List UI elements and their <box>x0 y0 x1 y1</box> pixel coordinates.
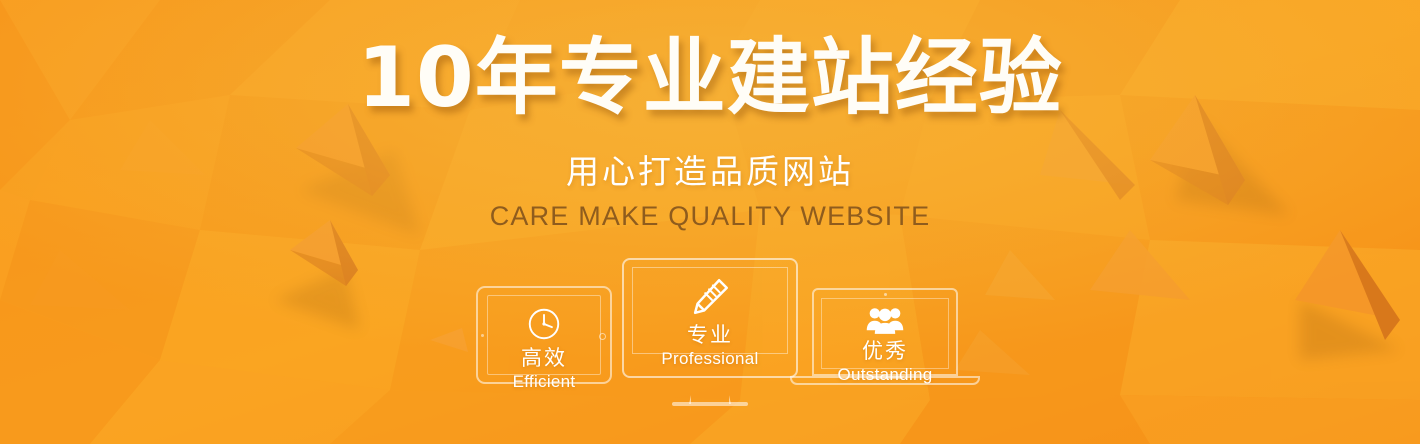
feature-label-en: Professional <box>624 348 796 369</box>
people-group-icon <box>866 304 904 336</box>
feature-card-efficient[interactable]: 高效 Efficient <box>476 286 612 384</box>
laptop-base-notch-icon <box>866 376 904 379</box>
banner-headline: 10年专业建站经验 <box>0 36 1420 119</box>
monitor-stand-neck <box>689 378 731 404</box>
feature-label-cn: 专业 <box>624 324 796 348</box>
banner-subtitle-cn: 用心打造品质网站 <box>0 155 1420 188</box>
promo-banner: 10年专业建站经验 用心打造品质网站 CARE MAKE QUALITY WEB… <box>0 0 1420 444</box>
banner-subtitle-en: CARE MAKE QUALITY WEBSITE <box>0 203 1420 230</box>
feature-card-professional[interactable]: 专业 Professional <box>622 258 798 378</box>
laptop-camera-icon <box>884 293 887 296</box>
feature-label-cn: 高效 <box>478 347 610 371</box>
feature-label-en: Efficient <box>478 371 610 392</box>
feature-device-group: 高效 Efficient 专业 <box>0 250 1420 415</box>
feature-card-outstanding[interactable]: 优秀 Outstanding <box>812 288 958 376</box>
clock-icon <box>525 305 563 343</box>
monitor-stand-base <box>672 402 748 406</box>
feature-label-cn: 优秀 <box>814 340 956 364</box>
pencil-icon <box>687 274 733 320</box>
